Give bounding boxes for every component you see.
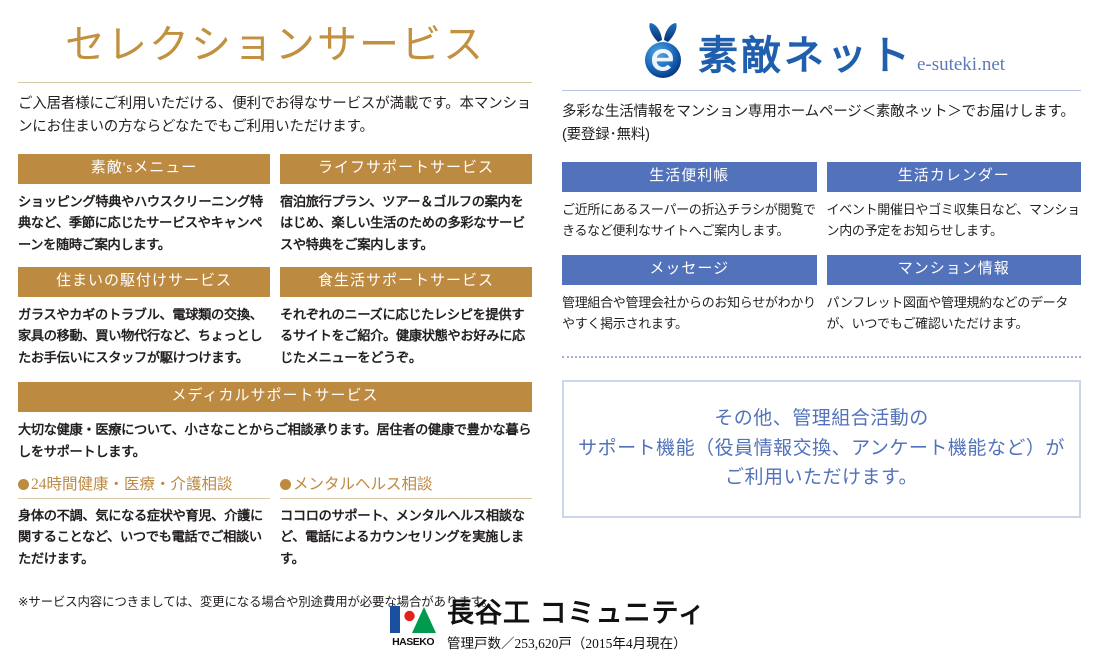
service-card-title: ライフサポートサービス bbox=[280, 154, 532, 184]
medical-subsection-title-text: メンタルヘルス相談 bbox=[293, 476, 433, 493]
service-card-title: 住まいの駆付けサービス bbox=[18, 267, 270, 297]
e-suteki-leaf-icon bbox=[638, 22, 690, 80]
feature-card-body: パンフレット図面や管理規約などのデータが、いつでもご確認いただけます。 bbox=[827, 285, 1082, 334]
bullet-dot-icon bbox=[18, 479, 29, 490]
feature-card-title: メッセージ bbox=[562, 255, 817, 285]
haseko-logo-mark: HASEKO bbox=[389, 604, 437, 648]
medical-subsection-body: 身体の不調、気になる症状や育児、介護に関することなど、いつでも電話でご相談いただ… bbox=[18, 499, 270, 569]
suteki-net-url: e-suteki.net bbox=[917, 54, 1005, 76]
medical-subsection-body: ココロのサポート、メンタルヘルス相談など、電話によるカウンセリングを実施します。 bbox=[280, 499, 532, 569]
service-card-body: 大切な健康・医療について、小さなことからご相談承ります。居住者の健康で豊かな暮ら… bbox=[18, 412, 532, 462]
feature-card-message[interactable]: メッセージ 管理組合や管理会社からのお知らせがわかりやすく掲示されます。 bbox=[562, 255, 817, 334]
haseko-glyph-icon bbox=[389, 604, 437, 635]
title-divider bbox=[18, 82, 532, 83]
service-card-life-support[interactable]: ライフサポートサービス 宿泊旅行プラン、ツアー＆ゴルフの案内をはじめ、楽しい生活… bbox=[280, 154, 532, 255]
medical-subsections: 24時間健康・医療・介護相談 身体の不調、気になる症状や育児、介護に関することな… bbox=[18, 472, 532, 569]
service-card-home-rescue[interactable]: 住まいの駆付けサービス ガラスやカギのトラブル、電球類の交換、家具の移動、買い物… bbox=[18, 267, 270, 368]
service-card-body: ショッピング特典やハウスクリーニング特典など、季節に応じたサービスやキャンペーン… bbox=[18, 184, 270, 255]
service-card-title: 食生活サポートサービス bbox=[280, 267, 532, 297]
medical-subsection-mental: メンタルヘルス相談 ココロのサポート、メンタルヘルス相談など、電話によるカウンセ… bbox=[280, 472, 532, 569]
suteki-net-column: 素敵ネット e-suteki.net 多彩な生活情報をマンション専用ホームページ… bbox=[548, 0, 1095, 610]
feature-card-title: 生活便利帳 bbox=[562, 162, 817, 192]
page-title: セレクションサービス bbox=[18, 0, 532, 78]
service-card-medical-support[interactable]: メディカルサポートサービス 大切な健康・医療について、小さなことからご相談承りま… bbox=[18, 382, 532, 569]
footer-company-name: 長谷工 コミュニティ bbox=[447, 599, 706, 629]
suteki-net-logo: 素敵ネット e-suteki.net bbox=[562, 0, 1081, 86]
selection-service-column: セレクションサービス ご入居者様にご利用いただける、便利でお得なサービスが満載で… bbox=[0, 0, 548, 610]
feature-row-2: メッセージ 管理組合や管理会社からのお知らせがわかりやすく掲示されます。 マンシ… bbox=[562, 255, 1081, 334]
left-lead-text: ご入居者様にご利用いただける、便利でお得なサービスが満載です。本マンションにお住… bbox=[18, 93, 532, 140]
feature-card-living-handbook[interactable]: 生活便利帳 ご近所にあるスーパーの折込チラシが閲覧できるなど便利なサイトへご案内… bbox=[562, 162, 817, 241]
service-row-2: 住まいの駆付けサービス ガラスやカギのトラブル、電球類の交換、家具の移動、買い物… bbox=[18, 267, 532, 368]
suteki-net-wordmark: 素敵ネット bbox=[698, 36, 913, 76]
service-card-title: 素敵'sメニュー bbox=[18, 154, 270, 184]
haseko-wordmark: HASEKO bbox=[389, 636, 437, 648]
footer-unit-count: 管理戸数／253,620戸（2015年4月現在） bbox=[447, 632, 706, 652]
service-card-body: それぞれのニーズに応じたレシピを提供するサイトをご紹介。健康状態やお好みに応じた… bbox=[280, 297, 532, 368]
brochure-page: セレクションサービス ご入居者様にご利用いただける、便利でお得なサービスが満載で… bbox=[0, 0, 1095, 610]
feature-row-1: 生活便利帳 ご近所にあるスーパーの折込チラシが閲覧できるなど便利なサイトへご案内… bbox=[562, 162, 1081, 241]
footer-text-block: 長谷工 コミュニティ 管理戸数／253,620戸（2015年4月現在） bbox=[447, 599, 706, 652]
additional-features-callout: その他、管理組合活動の サポート機能（役員情報交換、アンケート機能など）が ご利… bbox=[562, 380, 1081, 518]
bullet-dot-icon bbox=[280, 479, 291, 490]
service-card-body: 宿泊旅行プラン、ツアー＆ゴルフの案内をはじめ、楽しい生活のための多彩なサービスや… bbox=[280, 184, 532, 255]
medical-subsection-title-text: 24時間健康・医療・介護相談 bbox=[31, 476, 233, 493]
footer: HASEKO 長谷工 コミュニティ 管理戸数／253,620戸（2015年4月現… bbox=[0, 599, 1095, 652]
dotted-divider bbox=[562, 356, 1081, 358]
right-lead-text: 多彩な生活情報をマンション専用ホームページ＜素敵ネット＞でお届けします。(要登録… bbox=[562, 101, 1081, 148]
medical-subsection-24h: 24時間健康・医療・介護相談 身体の不調、気になる症状や育児、介護に関することな… bbox=[18, 472, 270, 569]
service-card-food-support[interactable]: 食生活サポートサービス それぞれのニーズに応じたレシピを提供するサイトをご紹介。… bbox=[280, 267, 532, 368]
medical-subsection-title: メンタルヘルス相談 bbox=[280, 472, 532, 499]
service-card-sutekis-menu[interactable]: 素敵'sメニュー ショッピング特典やハウスクリーニング特典など、季節に応じたサー… bbox=[18, 154, 270, 255]
medical-subsection-title: 24時間健康・医療・介護相談 bbox=[18, 472, 270, 499]
service-card-body: ガラスやカギのトラブル、電球類の交換、家具の移動、買い物代行など、ちょっとしたお… bbox=[18, 297, 270, 368]
feature-card-body: イベント開催日やゴミ収集日など、マンション内の予定をお知らせします。 bbox=[827, 192, 1082, 241]
feature-card-mansion-info[interactable]: マンション情報 パンフレット図面や管理規約などのデータが、いつでもご確認いただけ… bbox=[827, 255, 1082, 334]
service-card-title: メディカルサポートサービス bbox=[18, 382, 532, 412]
feature-card-title: マンション情報 bbox=[827, 255, 1082, 285]
feature-card-body: ご近所にあるスーパーの折込チラシが閲覧できるなど便利なサイトへご案内します。 bbox=[562, 192, 817, 241]
feature-card-title: 生活カレンダー bbox=[827, 162, 1082, 192]
feature-card-body: 管理組合や管理会社からのお知らせがわかりやすく掲示されます。 bbox=[562, 285, 817, 334]
logo-divider bbox=[562, 90, 1081, 91]
service-row-1: 素敵'sメニュー ショッピング特典やハウスクリーニング特典など、季節に応じたサー… bbox=[18, 154, 532, 255]
feature-card-living-calendar[interactable]: 生活カレンダー イベント開催日やゴミ収集日など、マンション内の予定をお知らせしま… bbox=[827, 162, 1082, 241]
